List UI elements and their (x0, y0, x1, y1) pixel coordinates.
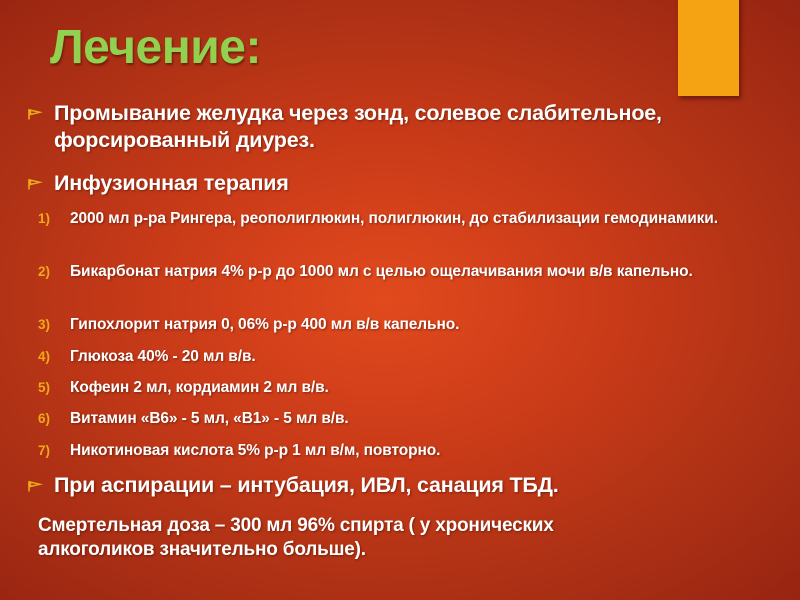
numbered-item-4-marker: 4) (38, 347, 70, 366)
pennant-bullet-icon (28, 472, 54, 492)
pennant-bullet-icon (28, 100, 54, 120)
numbered-item-5-text: Кофеин 2 мл, кордиамин 2 мл в/в. (70, 378, 329, 399)
numbered-item-3: 3) Гипохлорит натрия 0, 06% р-р 400 мл в… (38, 315, 728, 336)
numbered-item-4: 4) Глюкоза 40% - 20 мл в/в. (38, 347, 728, 368)
bullet-item-1-text: Промывание желудка через зонд, солевое с… (54, 100, 688, 154)
numbered-item-7: 7) Никотиновая кислота 5% р-р 1 мл в/м, … (38, 441, 728, 462)
numbered-item-6-marker: 6) (38, 409, 70, 428)
numbered-item-2: 2) Бикарбонат натрия 4% р-р до 1000 мл с… (38, 262, 728, 283)
bullet-item-1: Промывание желудка через зонд, солевое с… (28, 100, 688, 154)
slide-title: Лечение: (50, 22, 261, 74)
numbered-item-7-marker: 7) (38, 441, 70, 460)
numbered-item-3-marker: 3) (38, 315, 70, 334)
accent-rectangle-decoration (678, 0, 739, 96)
numbered-item-7-text: Никотиновая кислота 5% р-р 1 мл в/м, пов… (70, 441, 440, 462)
pennant-bullet-icon (28, 170, 54, 190)
numbered-item-3-text: Гипохлорит натрия 0, 06% р-р 400 мл в/в … (70, 315, 459, 336)
numbered-item-6-text: Витамин «В6» - 5 мл, «В1» - 5 мл в/в. (70, 409, 349, 430)
bullet-item-2: Инфузионная терапия (28, 170, 688, 197)
numbered-item-1-marker: 1) (38, 209, 70, 228)
closing-note: Смертельная доза – 300 мл 96% спирта ( у… (38, 514, 638, 562)
numbered-item-2-text: Бикарбонат натрия 4% р-р до 1000 мл с це… (70, 262, 693, 283)
numbered-item-2-marker: 2) (38, 262, 70, 281)
presentation-slide: Лечение: Промывание желудка через зонд, … (0, 0, 800, 600)
numbered-item-1: 1) 2000 мл р-ра Рингера, реополиглюкин, … (38, 209, 728, 230)
numbered-item-1-text: 2000 мл р-ра Рингера, реополиглюкин, пол… (70, 209, 718, 230)
numbered-item-6: 6) Витамин «В6» - 5 мл, «В1» - 5 мл в/в. (38, 409, 728, 430)
numbered-item-4-text: Глюкоза 40% - 20 мл в/в. (70, 347, 256, 368)
numbered-item-5-marker: 5) (38, 378, 70, 397)
numbered-item-5: 5) Кофеин 2 мл, кордиамин 2 мл в/в. (38, 378, 728, 399)
bullet-item-2-text: Инфузионная терапия (54, 170, 289, 197)
bullet-item-3-text: При аспирации – интубация, ИВЛ, санация … (54, 472, 559, 499)
bullet-item-3: При аспирации – интубация, ИВЛ, санация … (28, 472, 708, 499)
